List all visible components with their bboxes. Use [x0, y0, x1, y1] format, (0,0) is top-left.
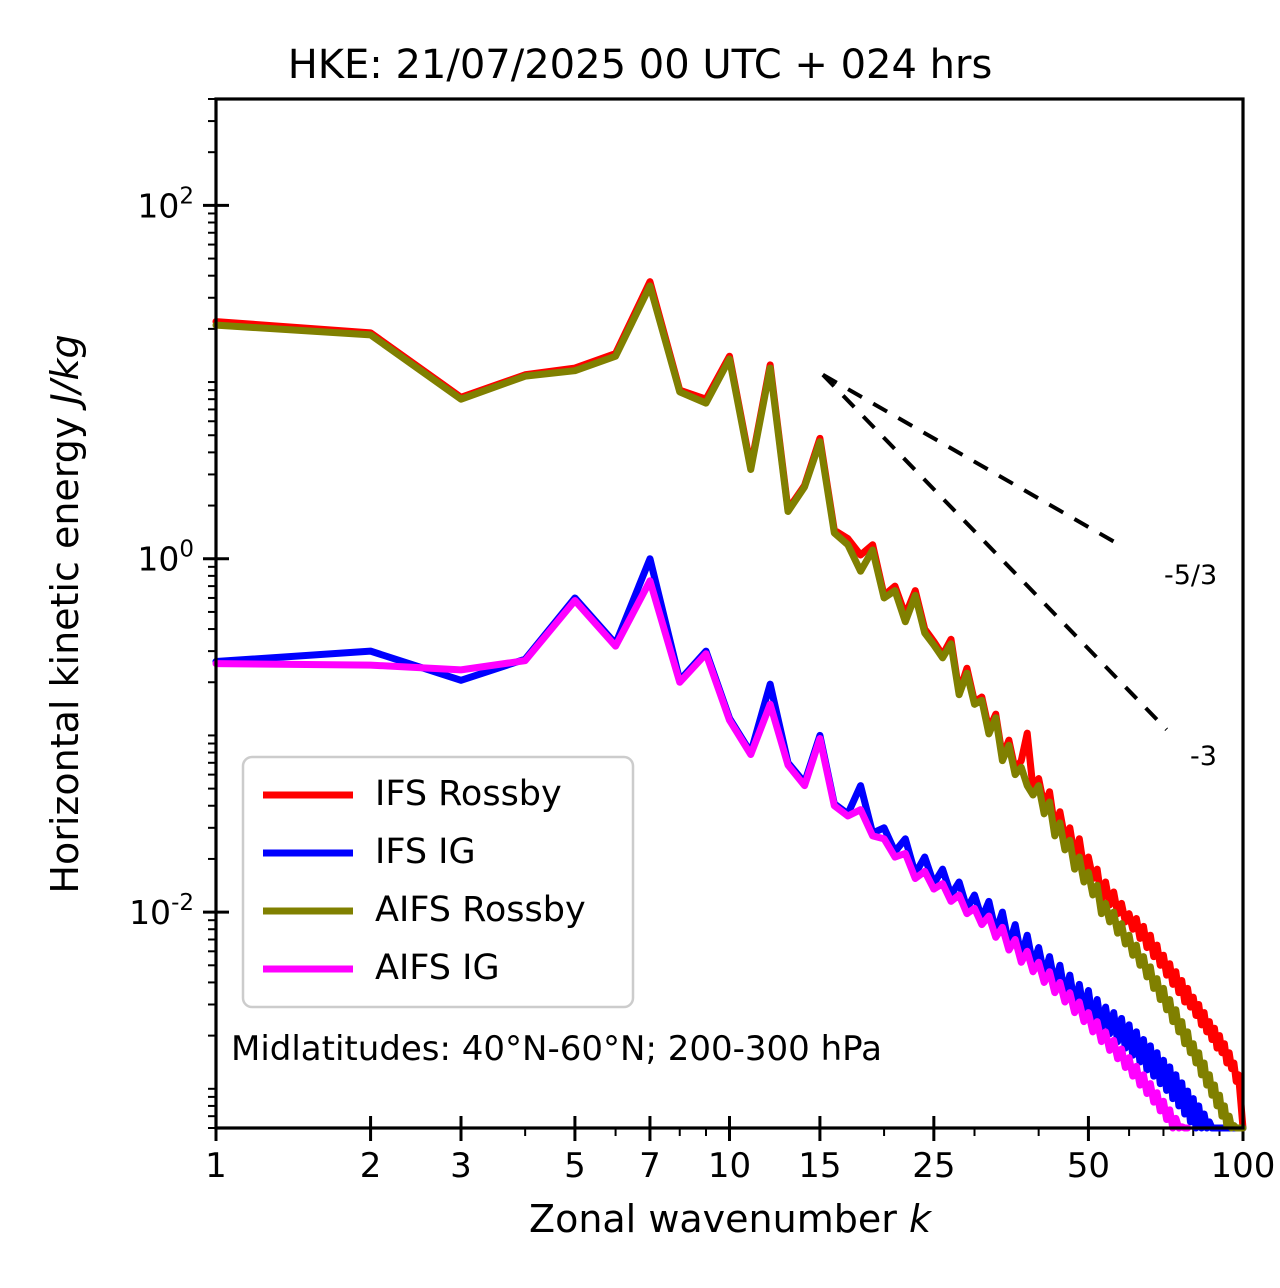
- x-tick-label: 100: [1211, 1146, 1276, 1186]
- x-tick-label: 25: [912, 1146, 955, 1186]
- x-tick-label: 50: [1067, 1146, 1110, 1186]
- x-tick-label: 5: [564, 1146, 586, 1186]
- chart-canvas: 1235710152550100 10210010-2 Zonal wavenu…: [0, 0, 1280, 1288]
- y-axis-label: Horizontal kinetic energy J/kg: [43, 334, 87, 893]
- slope-label-minus-three: -3: [1190, 741, 1217, 772]
- x-axis-tick-labels: 1235710152550100: [205, 1146, 1275, 1186]
- legend-label-aifs-ig[interactable]: AIFS IG: [375, 948, 500, 988]
- x-axis-label: Zonal wavenumber k: [529, 1197, 933, 1241]
- y-axis-tick-labels: 10210010-2: [129, 183, 194, 932]
- y-tick-label: 100: [137, 537, 194, 579]
- figure-container: HKE: 21/07/2025 00 UTC + 024 hrs 1235710…: [0, 0, 1280, 1288]
- chart-legend[interactable]: IFS RossbyIFS IGAIFS RossbyAIFS IG: [243, 757, 633, 1007]
- region-annotation: Midlatitudes: 40°N-60°N; 200-300 hPa: [231, 1029, 882, 1069]
- legend-label-ifs-rossby[interactable]: IFS Rossby: [375, 774, 562, 814]
- x-tick-label: 7: [639, 1146, 661, 1186]
- x-tick-label: 15: [798, 1146, 841, 1186]
- y-tick-label: 10-2: [129, 890, 194, 932]
- legend-label-aifs-rossby[interactable]: AIFS Rossby: [375, 890, 586, 930]
- x-tick-label: 10: [708, 1146, 751, 1186]
- x-tick-label: 1: [205, 1146, 227, 1186]
- y-tick-label: 102: [137, 183, 194, 225]
- legend-label-ifs-ig[interactable]: IFS IG: [375, 832, 476, 872]
- slope-label-five-thirds: -5/3: [1164, 560, 1217, 591]
- x-tick-label: 3: [450, 1146, 472, 1186]
- x-tick-label: 2: [360, 1146, 382, 1186]
